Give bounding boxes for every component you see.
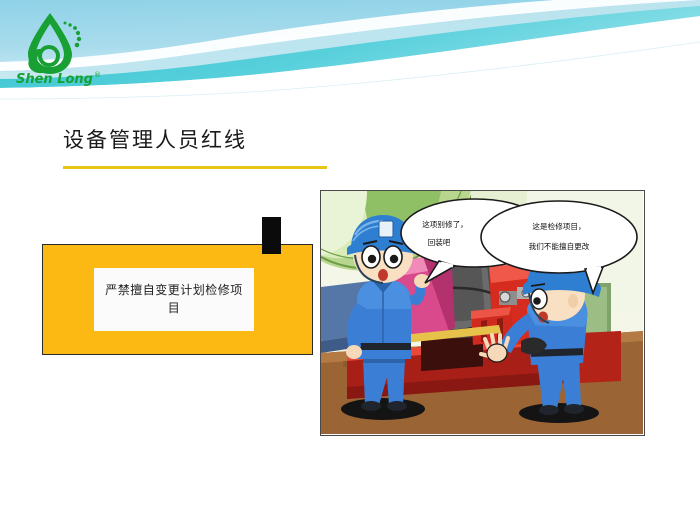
left-bubble-line-1: 这项别修了，: [422, 219, 468, 229]
header-banner: Shen Long ®: [0, 0, 700, 100]
right-bubble-line-1: 这是检修项目，: [532, 221, 585, 231]
callout-text: 严禁擅自变更计划检修项目: [100, 282, 248, 317]
registered-mark-icon: ®: [94, 71, 101, 79]
page-title: 设备管理人员红线: [63, 128, 483, 153]
title-underline-rule: [63, 166, 327, 169]
water-droplet-icon: Shen Long ®: [8, 6, 118, 86]
callout-black-tab: [262, 217, 281, 254]
page-title-block: 设备管理人员红线: [63, 128, 483, 153]
left-bubble-line-2: 回装吧: [428, 237, 451, 247]
presentation-slide: Shen Long ® 设备管理人员红线 严禁擅自变更计划检修项目: [0, 0, 700, 525]
callout-inner-panel: 严禁擅自变更计划检修项目: [94, 268, 254, 331]
right-bubble-line-2: 我们不能擅自更改: [529, 241, 590, 251]
logo-wordmark: Shen Long: [16, 72, 93, 86]
logo: Shen Long ®: [8, 6, 118, 86]
illustration-image: 这项别修了， 回装吧 这是检修项目， 我们不能擅自更改: [320, 190, 645, 436]
maintenance-dispute-cartoon: 这项别修了， 回装吧 这是检修项目， 我们不能擅自更改: [321, 191, 643, 434]
